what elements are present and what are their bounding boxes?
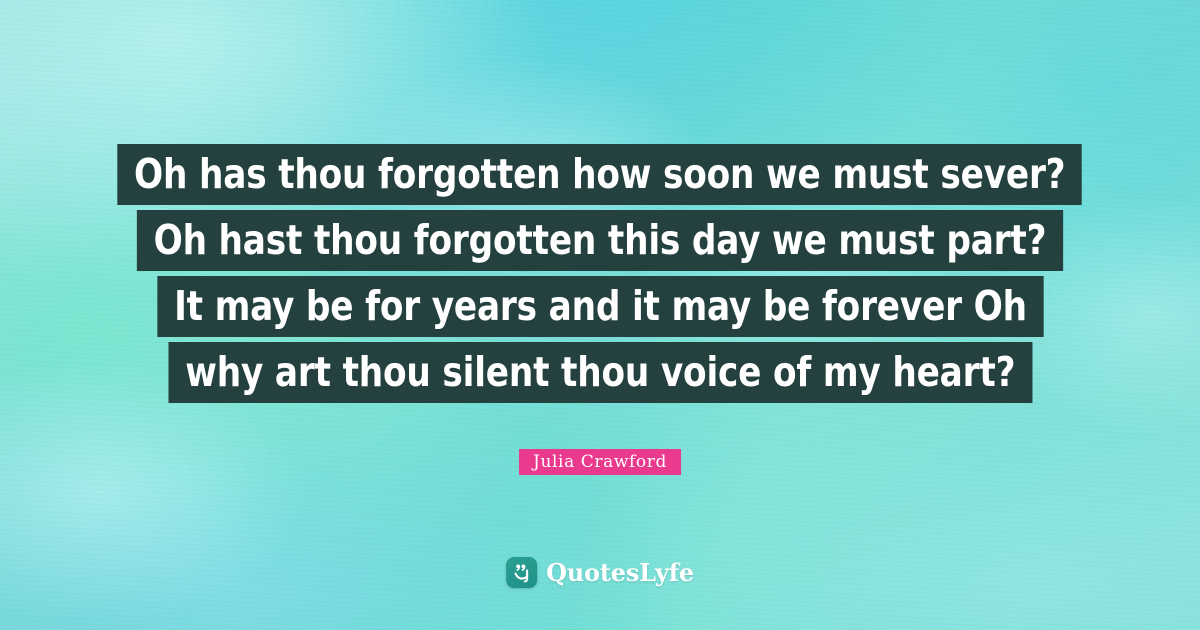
author-attribution-badge: Julia Crawford: [519, 449, 681, 475]
quote-line: It may be for years and it may be foreve…: [157, 276, 1043, 337]
brand-logo[interactable]: QuotesLyfe: [506, 557, 694, 588]
brand-name: QuotesLyfe: [546, 558, 694, 587]
quote-line: Oh hast thou forgotten this day we must …: [137, 210, 1063, 271]
quote-text-block: Oh has thou forgotten how soon we must s…: [0, 144, 1200, 403]
quote-mark-smiley-icon: [506, 557, 537, 588]
quote-image-card: Oh has thou forgotten how soon we must s…: [0, 0, 1200, 630]
quote-line: why art thou silent thou voice of my hea…: [168, 342, 1032, 403]
quote-line: Oh has thou forgotten how soon we must s…: [118, 144, 1083, 205]
